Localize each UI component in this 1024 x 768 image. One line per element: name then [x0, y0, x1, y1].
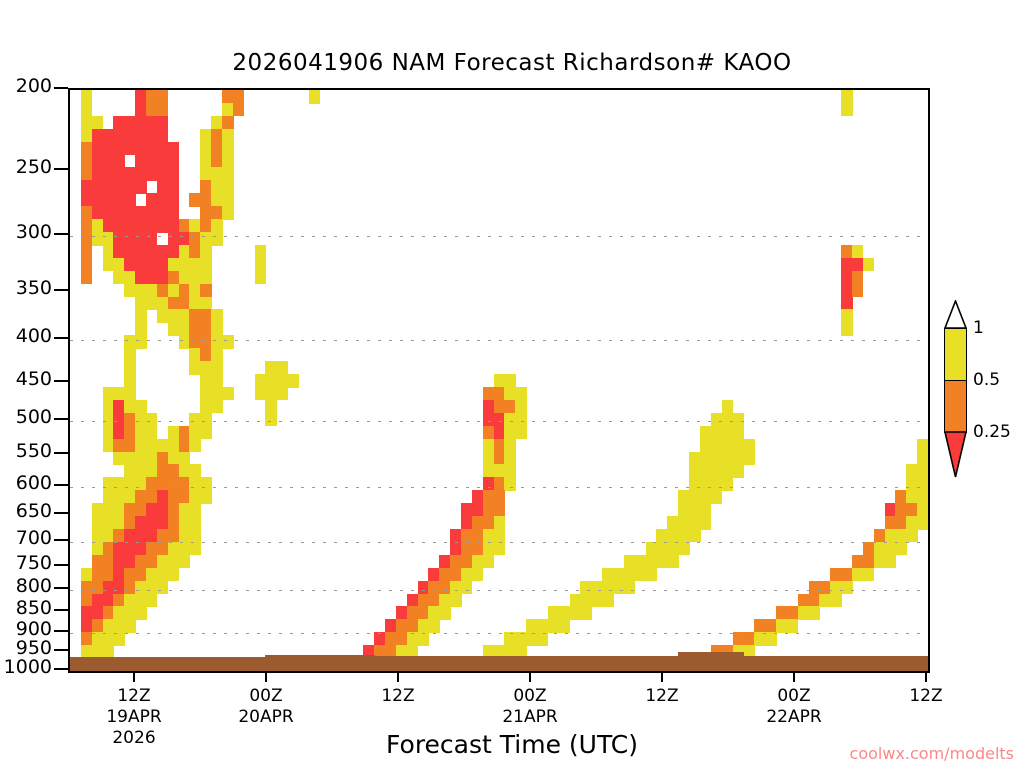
x-tick-time: 12Z — [381, 686, 414, 707]
colorbar-tick-label: 1 — [973, 318, 984, 338]
y-axis-tick-label: 450 — [16, 368, 52, 390]
x-axis-tick — [397, 673, 399, 682]
plot-area — [68, 88, 930, 673]
terrain-segment — [733, 652, 744, 673]
colorbar-tick-label: 0.25 — [973, 422, 1011, 442]
x-axis-tick — [661, 673, 663, 682]
x-axis-tick — [133, 673, 135, 682]
terrain-segment — [711, 652, 722, 673]
terrain-segment — [700, 652, 711, 673]
x-tick-time: 00Z — [238, 686, 293, 707]
terrain-segment — [689, 652, 700, 673]
colorbar-tick-label: 0.5 — [973, 370, 1000, 390]
x-tick-date: 19APR — [106, 707, 161, 728]
colorbar-body — [944, 328, 967, 432]
chart-root: 2026041906 NAM Forecast Richardson# KAOO… — [0, 0, 1024, 768]
y-axis-tick-label: 350 — [16, 277, 52, 299]
terrain-band — [70, 90, 928, 671]
chart-title: 2026041906 NAM Forecast Richardson# KAOO — [0, 50, 1024, 76]
x-tick-date: 20APR — [238, 707, 293, 728]
terrain-gridline — [70, 671, 928, 672]
y-axis-tick-label: 800 — [16, 575, 52, 597]
x-axis-tick — [793, 673, 795, 682]
colorbar-segment — [944, 328, 967, 381]
x-tick-time: 12Z — [645, 686, 678, 707]
y-axis-tick-label: 850 — [16, 597, 52, 619]
y-axis-tick-label: 600 — [16, 472, 52, 494]
y-axis-tick-label: 650 — [16, 500, 52, 522]
x-axis-tick — [265, 673, 267, 682]
x-axis-tick-label: 12Z — [645, 686, 678, 707]
y-axis-tick-label: 550 — [16, 440, 52, 462]
x-axis-tick — [529, 673, 531, 682]
colorbar-segment — [944, 380, 967, 433]
y-axis-tick-label: 500 — [16, 406, 52, 428]
y-axis-tick-label: 1000 — [4, 656, 52, 678]
x-axis-tick — [925, 673, 927, 682]
terrain-segment — [678, 652, 689, 673]
x-tick-time: 12Z — [909, 686, 942, 707]
watermark: coolwx.com/modelts — [850, 744, 1014, 763]
x-axis — [68, 673, 930, 685]
y-axis-tick-label: 250 — [16, 156, 52, 178]
colorbar: 10.50.25 — [944, 300, 1024, 475]
y-axis-tick-label: 200 — [16, 75, 52, 97]
x-axis-tick-label: 00Z22APR — [766, 686, 821, 728]
x-tick-time: 12Z — [106, 686, 161, 707]
colorbar-arrow-top — [944, 300, 967, 329]
y-axis-labels: 2002503003504004505005506006507007508008… — [0, 88, 60, 673]
x-axis-tick-label: 00Z20APR — [238, 686, 293, 728]
y-axis-tick-label: 300 — [16, 221, 52, 243]
terrain-segment — [722, 652, 733, 673]
x-axis-tick-label: 12Z — [381, 686, 414, 707]
x-axis-tick-label: 12Z — [909, 686, 942, 707]
x-axis-tick-label: 00Z21APR — [502, 686, 557, 728]
x-tick-time: 00Z — [502, 686, 557, 707]
y-axis-tick-label: 750 — [16, 552, 52, 574]
x-tick-date: 22APR — [766, 707, 821, 728]
y-axis-tick-label: 700 — [16, 527, 52, 549]
x-tick-date: 21APR — [502, 707, 557, 728]
y-axis-tick-label: 400 — [16, 325, 52, 347]
x-tick-time: 00Z — [766, 686, 821, 707]
colorbar-arrow-bottom — [944, 431, 967, 478]
